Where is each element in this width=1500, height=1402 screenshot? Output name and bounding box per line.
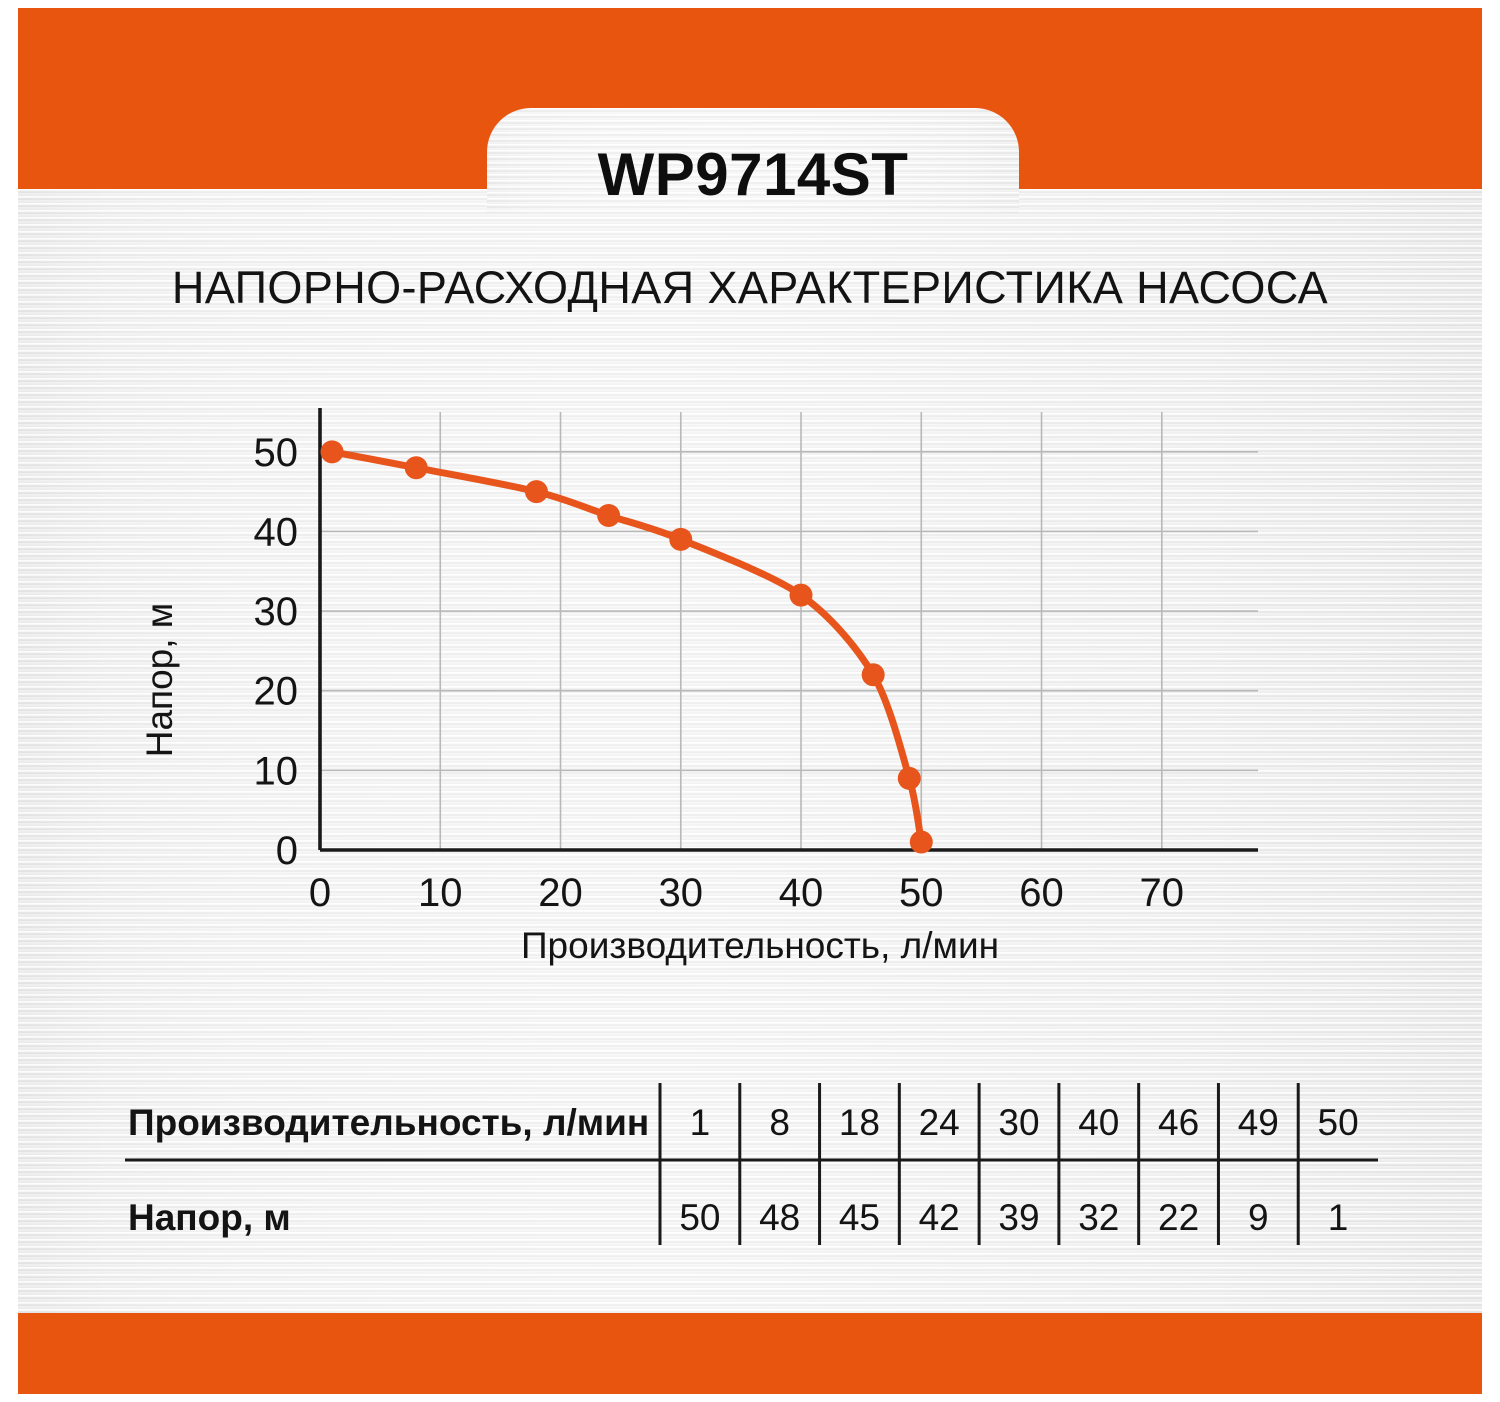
data-point-marker <box>898 767 921 790</box>
table-cell: 22 <box>1158 1197 1199 1238</box>
model-badge: WP9714ST <box>487 108 1019 213</box>
pump-data-table: Производительность, л/минНапор, м 181824… <box>120 1060 1384 1260</box>
table-cell: 18 <box>839 1102 880 1143</box>
table-cell: 42 <box>919 1197 960 1238</box>
table-row-label: Производительность, л/мин <box>128 1102 649 1143</box>
pump-curve-chart: 010203040506070 01020304050 Производител… <box>120 380 1380 1000</box>
pump-curve-poster: WP9714ST НАПОРНО-РАСХОДНАЯ ХАРАКТЕРИСТИК… <box>0 0 1500 1402</box>
data-point-marker <box>405 456 428 479</box>
data-point-marker <box>597 504 620 527</box>
data-point-marker <box>321 440 344 463</box>
chart-y-axis-label: Напор, м <box>139 603 180 758</box>
x-tick-label: 60 <box>1019 871 1064 915</box>
chart-x-tick-labels: 010203040506070 <box>309 871 1184 915</box>
table-row-labels: Производительность, л/минНапор, м <box>128 1102 649 1238</box>
model-badge-label: WP9714ST <box>598 112 909 209</box>
data-point-marker <box>910 831 933 854</box>
table-cell: 32 <box>1078 1197 1119 1238</box>
table-cell: 39 <box>998 1197 1039 1238</box>
table-cell: 50 <box>1318 1102 1359 1143</box>
chart-x-axis-label: Производительность, л/мин <box>521 925 999 966</box>
chart-series-line <box>332 452 921 842</box>
x-tick-label: 50 <box>899 871 944 915</box>
data-point-marker <box>862 663 885 686</box>
table-cell: 50 <box>679 1197 720 1238</box>
table-cell: 8 <box>769 1102 790 1143</box>
y-tick-label: 0 <box>276 829 298 873</box>
curve-path <box>332 452 921 842</box>
table-cell: 1 <box>1328 1197 1349 1238</box>
table-cell: 24 <box>919 1102 960 1143</box>
table-cell: 9 <box>1248 1197 1269 1238</box>
table-cell: 46 <box>1158 1102 1199 1143</box>
page-title: НАПОРНО-РАСХОДНАЯ ХАРАКТЕРИСТИКА НАСОСА <box>0 262 1500 314</box>
table-cell: 30 <box>998 1102 1039 1143</box>
bottom-orange-band <box>18 1313 1482 1394</box>
x-tick-label: 10 <box>418 871 463 915</box>
chart-y-tick-labels: 01020304050 <box>254 431 299 873</box>
table-cell: 48 <box>759 1197 800 1238</box>
x-tick-label: 30 <box>659 871 704 915</box>
data-point-marker <box>525 480 548 503</box>
y-tick-label: 20 <box>254 670 299 714</box>
table-cells: 18182430404649505048454239322291 <box>679 1102 1358 1238</box>
x-tick-label: 0 <box>309 871 331 915</box>
x-tick-label: 40 <box>779 871 824 915</box>
x-tick-label: 20 <box>538 871 583 915</box>
table-svg: Производительность, л/минНапор, м 181824… <box>120 1060 1384 1260</box>
data-point-marker <box>790 584 813 607</box>
table-cell: 49 <box>1238 1102 1279 1143</box>
data-point-marker <box>669 528 692 551</box>
table-row-label: Напор, м <box>128 1197 291 1238</box>
chart-data-markers <box>321 440 933 853</box>
table-cell: 1 <box>690 1102 711 1143</box>
y-tick-label: 30 <box>254 590 299 634</box>
y-tick-label: 40 <box>254 510 299 554</box>
x-tick-label: 70 <box>1140 871 1185 915</box>
table-cell: 40 <box>1078 1102 1119 1143</box>
y-tick-label: 50 <box>254 431 299 475</box>
chart-svg: 010203040506070 01020304050 Производител… <box>120 380 1380 1000</box>
table-cell: 45 <box>839 1197 880 1238</box>
y-tick-label: 10 <box>254 749 299 793</box>
